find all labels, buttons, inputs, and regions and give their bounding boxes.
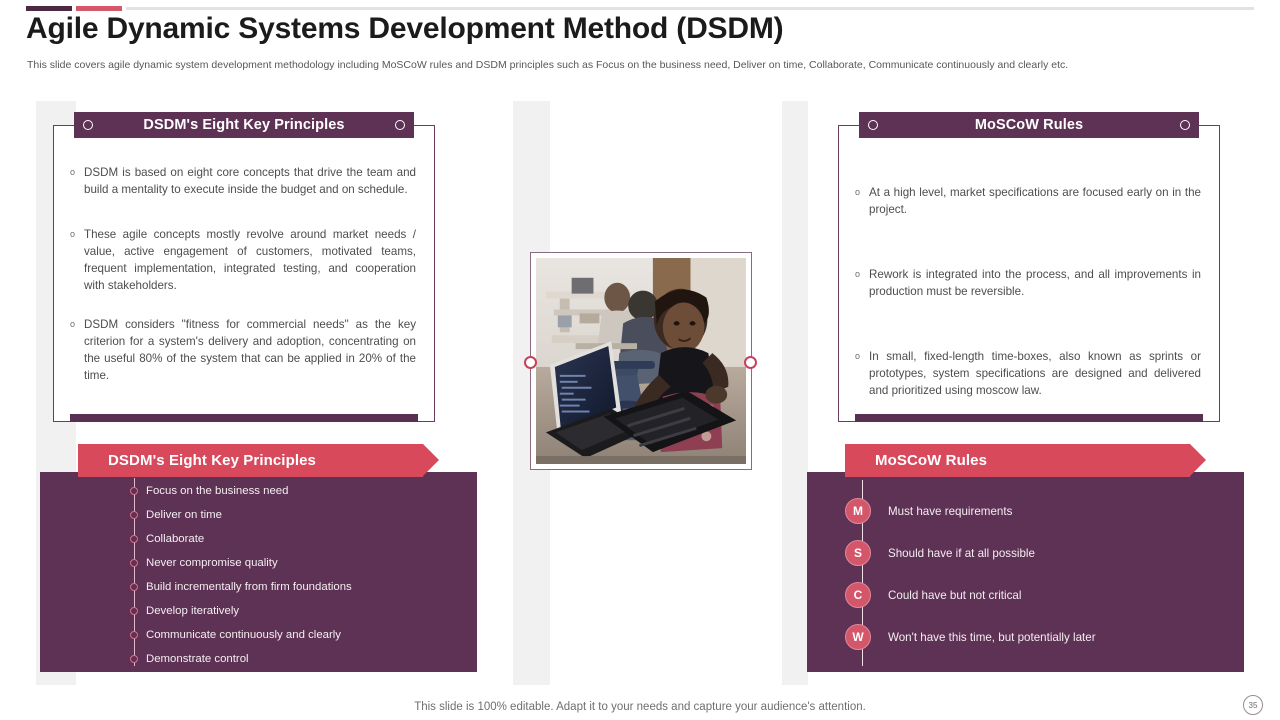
list-item[interactable]: Deliver on time [110, 506, 467, 524]
page-number-badge: 35 [1243, 695, 1263, 715]
page-subtitle: This slide covers agile dynamic system d… [27, 59, 1227, 71]
moscow-badge-m: M [845, 498, 871, 524]
principles-card-header: DSDM's Eight Key Principles [74, 112, 414, 138]
office-team-photo-graphic [536, 258, 746, 464]
list-item[interactable]: Develop iteratively [110, 602, 467, 620]
bullet-item: o These agile concepts mostly revolve ar… [68, 226, 416, 294]
diamond-marker-icon [130, 487, 138, 495]
list-item-label: Collaborate [110, 533, 204, 545]
list-item[interactable]: Never compromise quality [110, 554, 467, 572]
list-item[interactable]: Collaborate [110, 530, 467, 548]
bullet-text: These agile concepts mostly revolve arou… [84, 226, 416, 294]
moscow-item-label: Must have requirements [888, 505, 1012, 518]
circle-marker-right-icon [1180, 120, 1190, 130]
principles-list-panel: Focus on the business need Deliver on ti… [40, 472, 477, 672]
list-item[interactable]: Demonstrate control [110, 650, 467, 668]
bullet-marker-icon: o [68, 226, 84, 294]
list-item[interactable]: Build incrementally from firm foundation… [110, 578, 467, 596]
moscow-card: MoSCoW Rules o At a high level, market s… [838, 125, 1220, 422]
moscow-card-header: MoSCoW Rules [859, 112, 1199, 138]
principles-card-title: DSDM's Eight Key Principles [143, 117, 344, 133]
moscow-item[interactable]: W Won't have this time, but potentially … [845, 624, 1096, 650]
moscow-card-title: MoSCoW Rules [975, 117, 1083, 133]
bullet-marker-icon: o [853, 184, 869, 218]
list-item-label: Deliver on time [110, 509, 222, 521]
bullet-item: o In small, fixed-length time-boxes, als… [853, 348, 1201, 399]
bullet-item: o DSDM considers "fitness for commercial… [68, 316, 416, 384]
slide: Agile Dynamic Systems Development Method… [0, 0, 1280, 720]
diamond-marker-icon [130, 535, 138, 543]
diamond-marker-icon [130, 583, 138, 591]
connector-dot-left-icon [524, 356, 537, 369]
moscow-item[interactable]: S Should have if at all possible [845, 540, 1035, 566]
moscow-card-underbar [855, 414, 1203, 422]
list-item-label: Build incrementally from firm foundation… [110, 581, 352, 593]
principles-card-body: o DSDM is based on eight core concepts t… [54, 152, 434, 411]
moscow-item[interactable]: M Must have requirements [845, 498, 1012, 524]
top-accent-rule-gray [126, 7, 1254, 10]
principles-banner-title: DSDM's Eight Key Principles [78, 452, 316, 469]
connector-dot-right-icon [744, 356, 757, 369]
moscow-item-label: Could have but not critical [888, 589, 1021, 602]
bullet-item: o DSDM is based on eight core concepts t… [68, 164, 416, 198]
diamond-marker-icon [130, 511, 138, 519]
diamond-marker-icon [130, 559, 138, 567]
moscow-banner-title: MoSCoW Rules [845, 452, 987, 469]
principles-list: Focus on the business need Deliver on ti… [40, 472, 477, 672]
circle-marker-right-icon [395, 120, 405, 130]
bullet-item: o Rework is integrated into the process,… [853, 266, 1201, 300]
moscow-badge-w: W [845, 624, 871, 650]
moscow-item-label: Should have if at all possible [888, 547, 1035, 560]
office-team-photo [536, 258, 746, 464]
diamond-marker-icon [130, 631, 138, 639]
moscow-item[interactable]: C Could have but not critical [845, 582, 1021, 608]
moscow-badge-c: C [845, 582, 871, 608]
bullet-marker-icon: o [853, 266, 869, 300]
top-accent-bar-crimson [76, 6, 122, 11]
circle-marker-left-icon [868, 120, 878, 130]
bullet-text: Rework is integrated into the process, a… [869, 266, 1201, 300]
top-accent-bar-purple [26, 6, 72, 11]
bullet-marker-icon: o [68, 316, 84, 384]
moscow-banner: MoSCoW Rules [845, 444, 1190, 477]
diamond-marker-icon [130, 655, 138, 663]
bullet-text: In small, fixed-length time-boxes, also … [869, 348, 1201, 399]
bullet-text: At a high level, market specifications a… [869, 184, 1201, 218]
bullet-text: DSDM considers "fitness for commercial n… [84, 316, 416, 384]
center-photo-frame [530, 252, 752, 470]
list-item[interactable]: Focus on the business need [110, 482, 467, 500]
bullet-item: o At a high level, market specifications… [853, 184, 1201, 218]
list-item[interactable]: Communicate continuously and clearly [110, 626, 467, 644]
footer-note: This slide is 100% editable. Adapt it to… [0, 701, 1280, 713]
moscow-badge-s: S [845, 540, 871, 566]
circle-marker-left-icon [83, 120, 93, 130]
diamond-marker-icon [130, 607, 138, 615]
principles-card-underbar [70, 414, 418, 422]
bullet-text: DSDM is based on eight core concepts tha… [84, 164, 416, 198]
page-title: Agile Dynamic Systems Development Method… [26, 12, 783, 46]
bullet-marker-icon: o [68, 164, 84, 198]
principles-banner: DSDM's Eight Key Principles [78, 444, 423, 477]
principles-card: DSDM's Eight Key Principles o DSDM is ba… [53, 125, 435, 422]
moscow-card-body: o At a high level, market specifications… [839, 152, 1219, 411]
list-item-label: Communicate continuously and clearly [110, 629, 341, 641]
bullet-marker-icon: o [853, 348, 869, 399]
moscow-item-label: Won't have this time, but potentially la… [888, 631, 1096, 644]
